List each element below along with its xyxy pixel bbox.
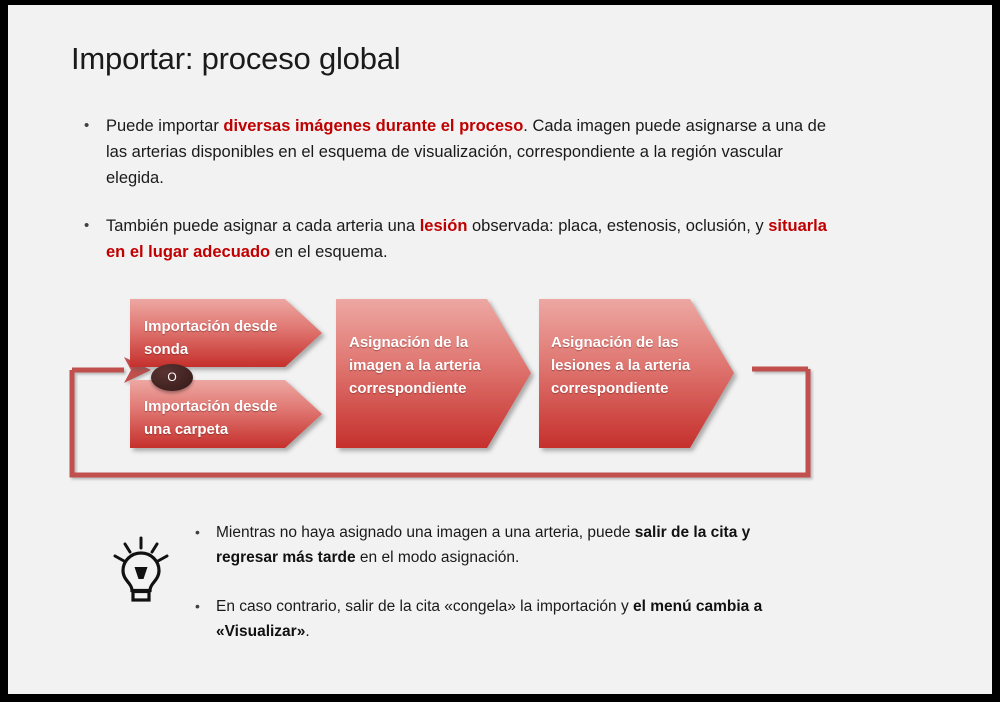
bullet-item: • Puede importar diversas imágenes duran… bbox=[76, 113, 836, 191]
bullet-marker-icon: • bbox=[195, 520, 200, 545]
slide-frame: Importar: proceso global • Puede importa… bbox=[0, 0, 1000, 702]
bullet-item: • En caso contrario, salir de la cita «c… bbox=[188, 594, 808, 644]
or-connector-badge: O bbox=[151, 364, 193, 391]
bottom-bullet-list: • Mientras no haya asignado una imagen a… bbox=[188, 520, 808, 668]
bullet-marker-icon: • bbox=[84, 113, 89, 139]
bullet-text: Mientras no haya asignado una imagen a u… bbox=[216, 524, 750, 566]
page-title: Importar: proceso global bbox=[71, 41, 400, 77]
bullet-text: En caso contrario, salir de la cita «con… bbox=[216, 598, 762, 640]
top-bullet-list: • Puede importar diversas imágenes duran… bbox=[76, 113, 836, 287]
bullet-marker-icon: • bbox=[84, 213, 89, 239]
bullet-text: También puede asignar a cada arteria una… bbox=[106, 217, 827, 261]
bullet-marker-icon: • bbox=[195, 594, 200, 619]
bullet-text: Puede importar diversas imágenes durante… bbox=[106, 117, 826, 187]
chevron-step-1-label: Importación desde sonda bbox=[144, 315, 304, 361]
slide-surface: Importar: proceso global • Puede importa… bbox=[8, 5, 992, 694]
bullet-item: • Mientras no haya asignado una imagen a… bbox=[188, 520, 808, 570]
chevron-step-4-label: Asignación de las lesiones a la arteria … bbox=[551, 331, 701, 400]
chevron-step-3-label: Asignación de la imagen a la arteria cor… bbox=[349, 331, 499, 400]
chevron-step-2-label: Importación desde una carpeta bbox=[144, 395, 304, 441]
lightbulb-icon bbox=[108, 533, 174, 603]
bullet-item: • También puede asignar a cada arteria u… bbox=[76, 213, 836, 265]
